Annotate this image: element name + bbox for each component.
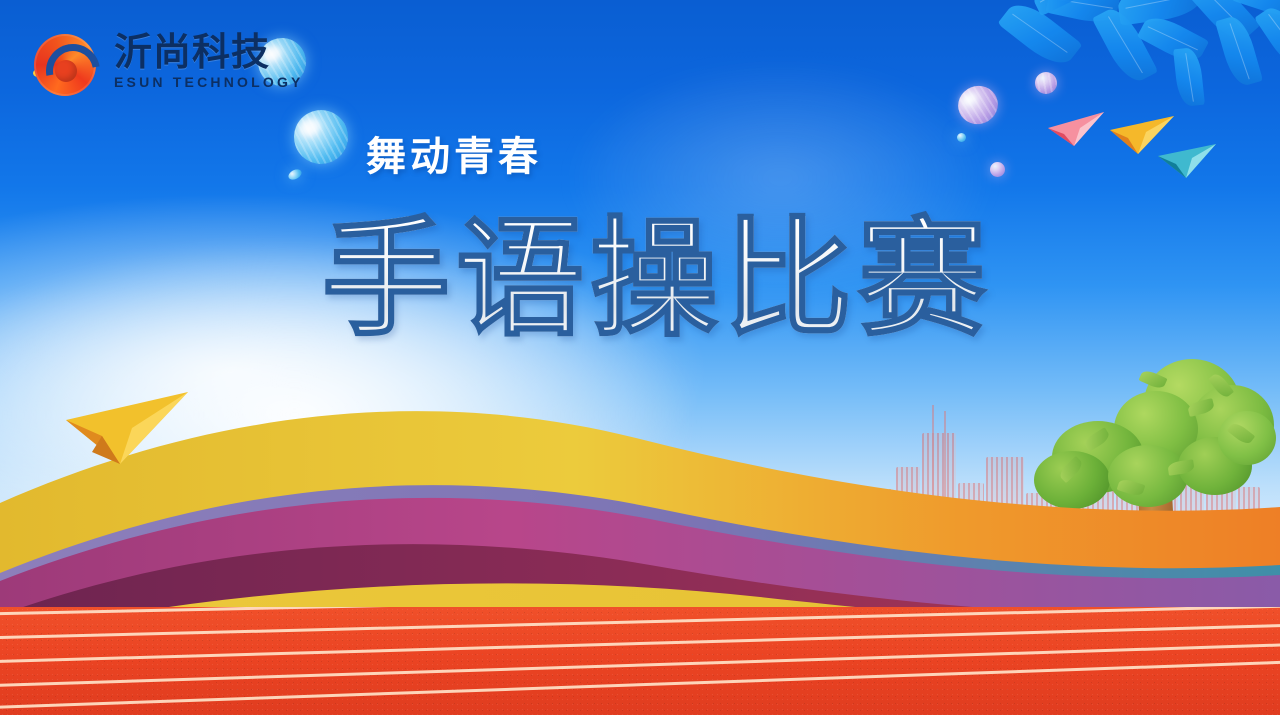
brand-logo[interactable]: 沂尚科技 ESUN TECHNOLOGY: [26, 22, 304, 100]
paper-plane-pink: [1046, 110, 1108, 150]
swirl-emblem: [34, 34, 96, 96]
brand-name-cn: 沂尚科技: [114, 34, 304, 72]
brand-text: 沂尚科技 ESUN TECHNOLOGY: [114, 34, 304, 89]
lane-line: [0, 607, 1280, 640]
brand-name-en: ESUN TECHNOLOGY: [114, 75, 304, 89]
poster-subtitle: 舞动青春: [366, 124, 542, 182]
paper-plane-teal: [1156, 140, 1222, 182]
bubble-stripes: [1035, 72, 1057, 94]
running-track: [0, 607, 1280, 715]
poster-title: 手语操比赛: [322, 216, 992, 344]
poster-canvas: 沂尚科技 ESUN TECHNOLOGY 舞动青春 手语操比赛: [0, 0, 1280, 715]
bubble-pink-tiny: [990, 162, 1005, 177]
paper-plane-yellow-large: [62, 386, 194, 474]
sun-swirl-icon: [26, 22, 104, 100]
lane-line: [0, 622, 1280, 664]
bubble-cyan-dot: [957, 133, 966, 142]
lane-line: [0, 642, 1280, 688]
bubble-pink-small: [1035, 72, 1057, 94]
